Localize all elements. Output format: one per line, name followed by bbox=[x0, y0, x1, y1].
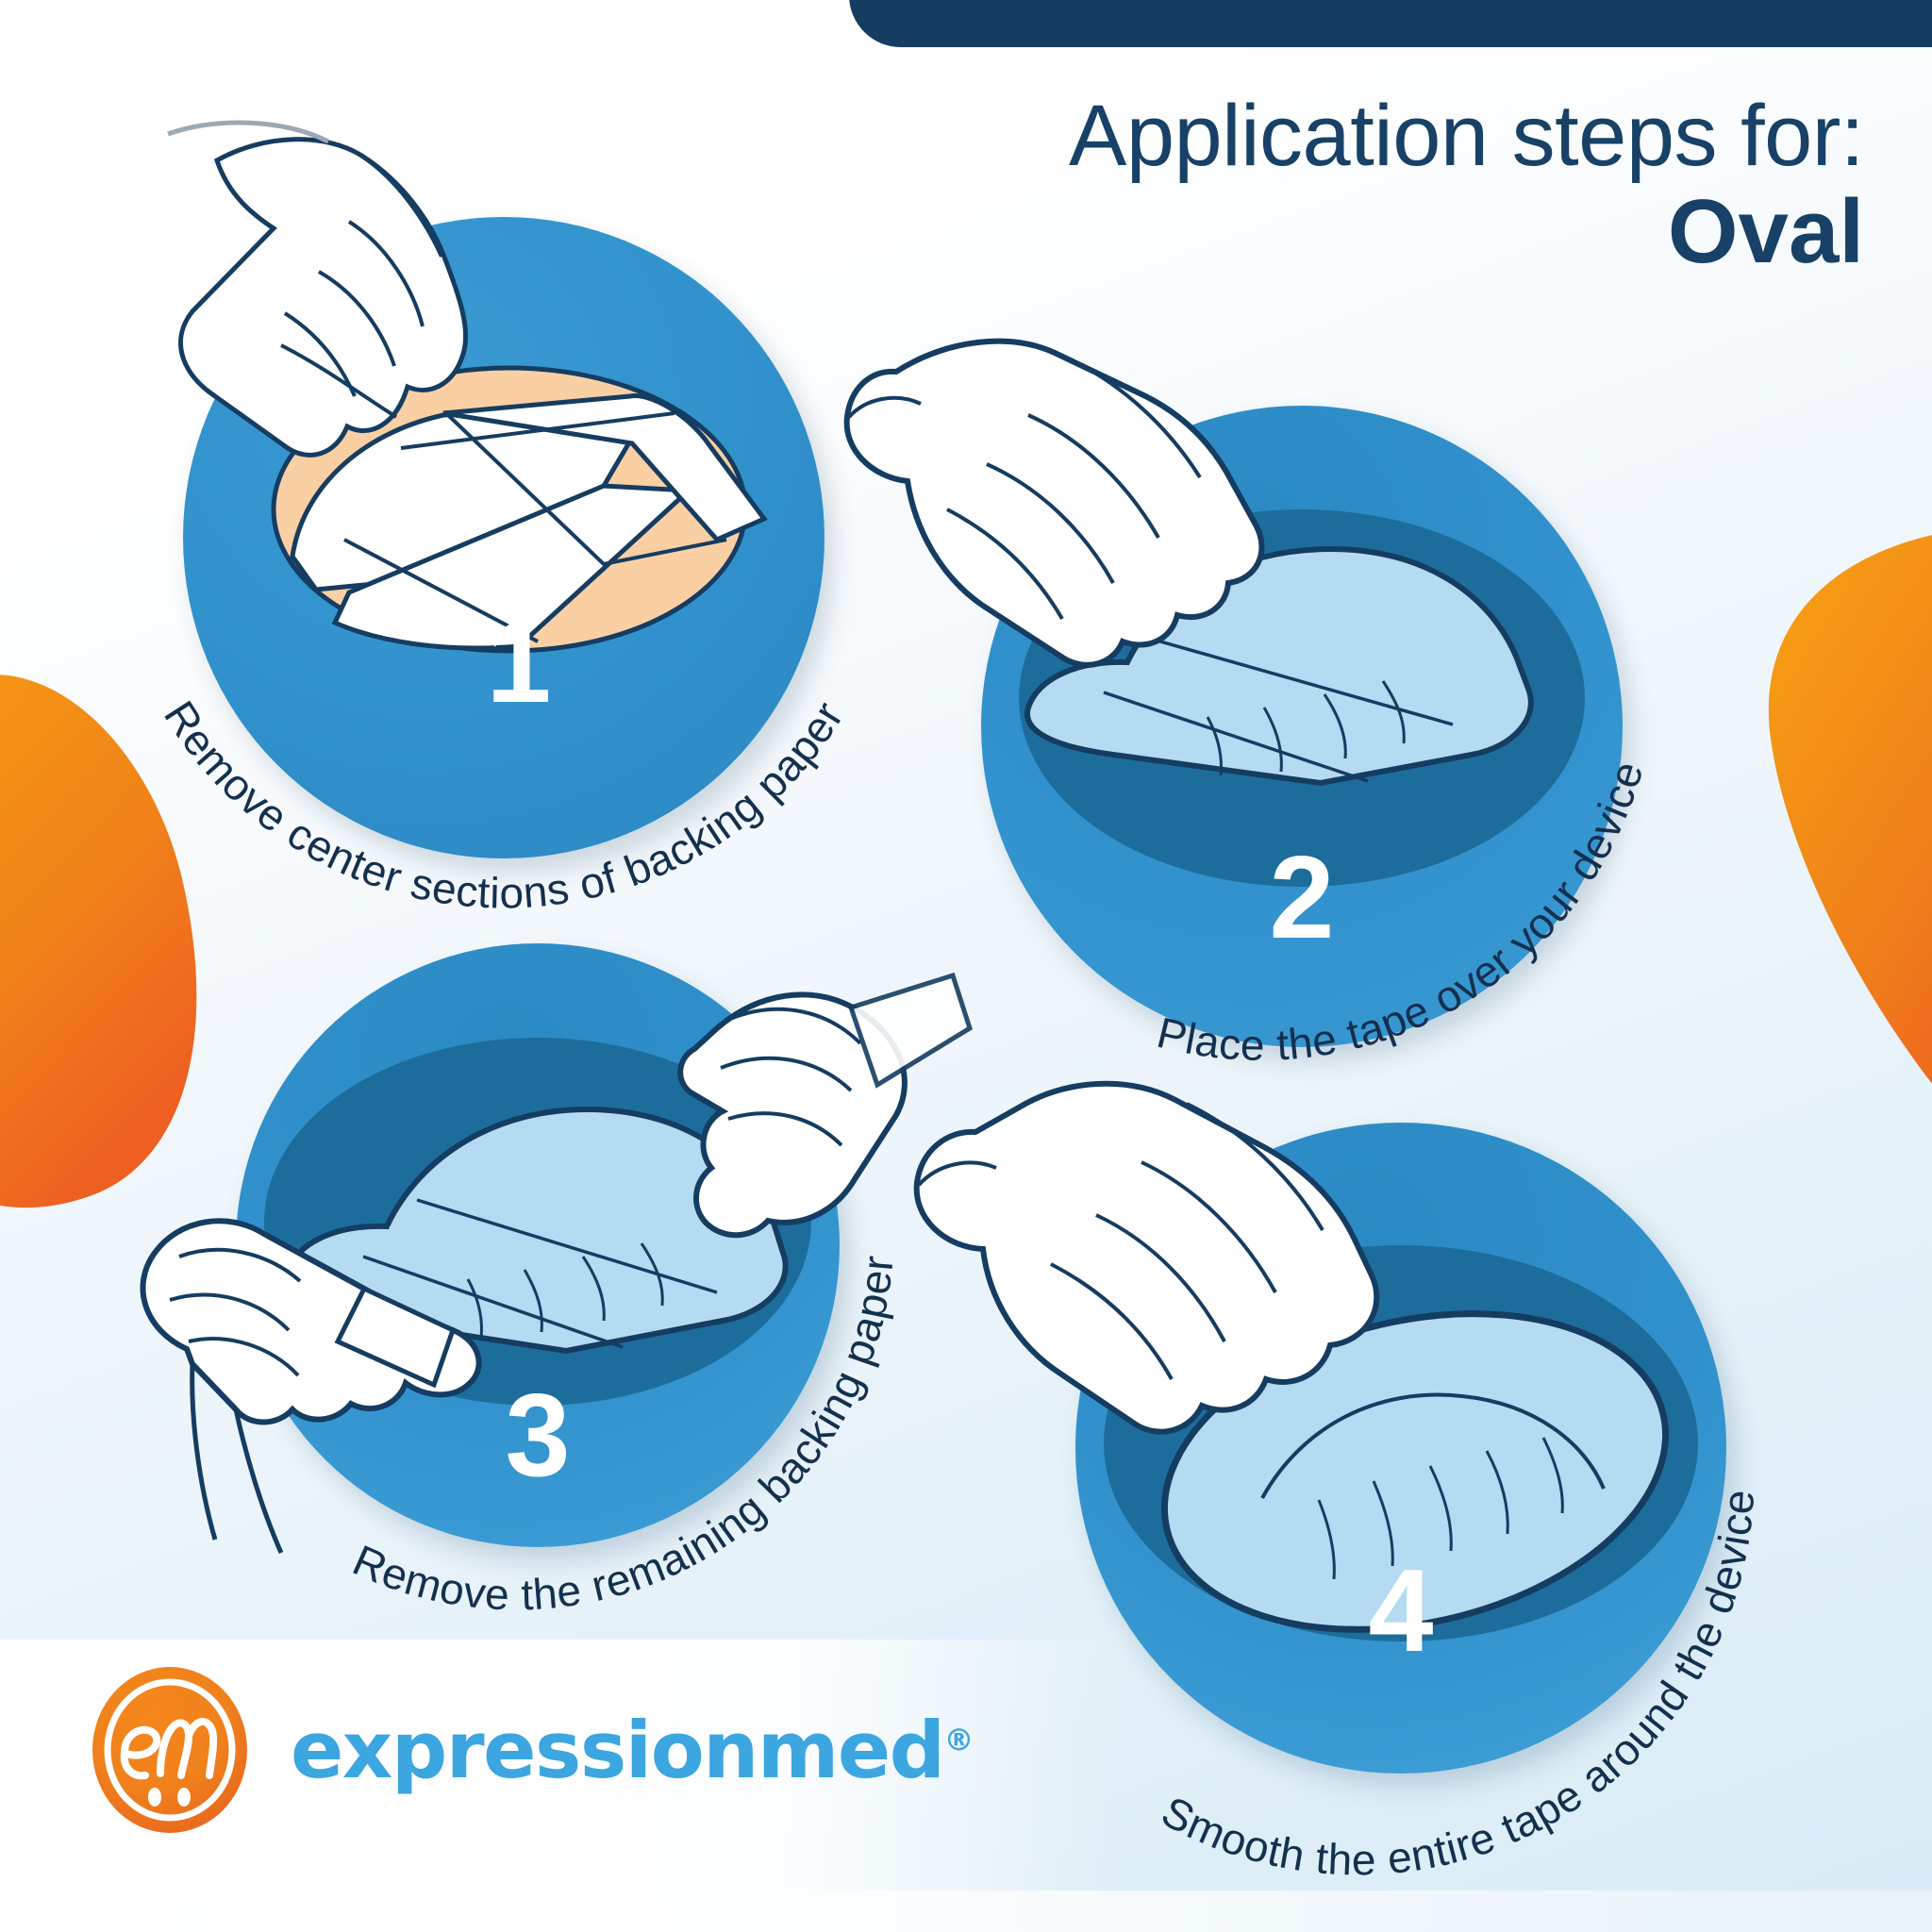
svg-text:Smooth the entire tape around: Smooth the entire tape around the device bbox=[1154, 1488, 1763, 1884]
em-smiley-logo-icon bbox=[91, 1666, 249, 1834]
top-navy-bar bbox=[849, 0, 1932, 47]
page-title: Application steps for: Oval bbox=[1069, 91, 1864, 279]
title-line-shape-name: Oval bbox=[1069, 185, 1864, 280]
step-4-caption: Smooth the entire tape around the device bbox=[924, 1019, 1924, 1932]
svg-text:Remove the remaining backing p: Remove the remaining backing paper bbox=[346, 1254, 903, 1620]
step-card-3: 3 Remove the remaining backing paper bbox=[151, 906, 924, 1689]
infographic-canvas: Application steps for: Oval 1 bbox=[0, 0, 1932, 1932]
logo-wordmark-text: expressionmed bbox=[291, 1705, 944, 1796]
step-3-caption-text: Remove the remaining backing paper bbox=[346, 1254, 903, 1620]
step-card-1: 1 Remove center sections of backing pape… bbox=[160, 113, 877, 858]
brand-logo[interactable]: expressionmed® bbox=[91, 1666, 973, 1834]
registered-trademark-symbol: ® bbox=[944, 1722, 974, 1757]
logo-wordmark: expressionmed® bbox=[291, 1711, 973, 1790]
step-4-caption-text: Smooth the entire tape around the device bbox=[1154, 1488, 1763, 1884]
step-card-4: 4 Smooth the entire tape around the devi… bbox=[1019, 1075, 1811, 1868]
title-line-application-steps: Application steps for: bbox=[1069, 91, 1864, 183]
